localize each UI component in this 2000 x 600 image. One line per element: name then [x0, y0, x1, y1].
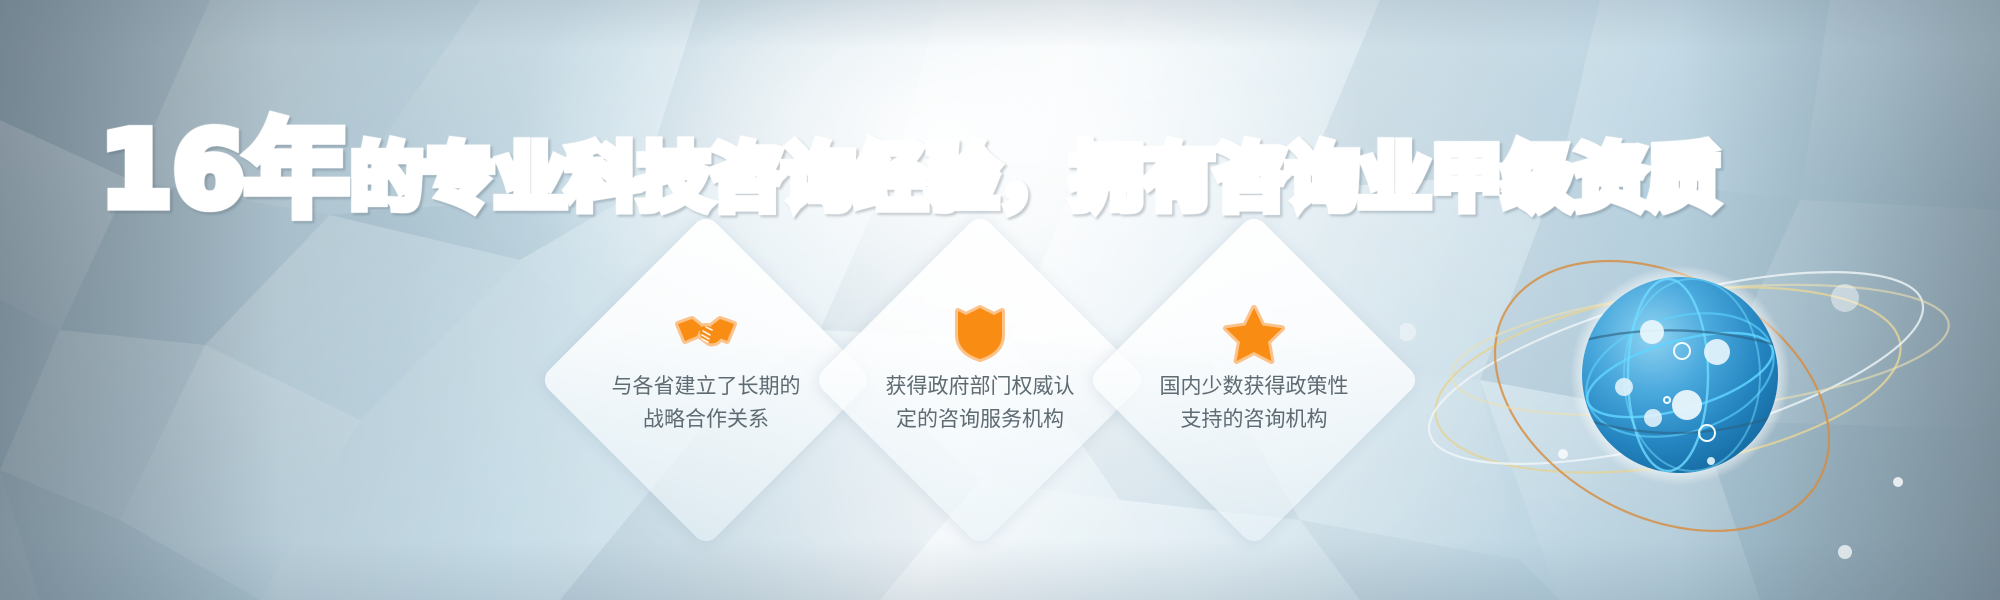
feature-caption-line1: 国内少数获得政策性: [1160, 370, 1349, 403]
feature-caption-line2: 战略合作关系: [643, 403, 769, 436]
feature-caption-line1: 获得政府部门权威认: [886, 370, 1075, 403]
feature-cards: 与各省建立了长期的 战略合作关系 获得政府部门权威认 定的咨询服务机构: [0, 0, 2000, 600]
feature-card-policy-support[interactable]: 国内少数获得政策性 支持的咨询机构: [1136, 262, 1372, 498]
promo-banner: 16年 16年 的专业科技咨询经验，拥有咨询业甲级资质 的专业科技咨询经验，拥有…: [0, 0, 2000, 600]
feature-caption-line2: 支持的咨询机构: [1181, 403, 1328, 436]
shield-icon: [951, 304, 1009, 362]
handshake-icon: [677, 304, 735, 362]
feature-card-authority[interactable]: 获得政府部门权威认 定的咨询服务机构: [862, 262, 1098, 498]
star-icon: [1225, 304, 1283, 362]
feature-caption-line2: 定的咨询服务机构: [896, 403, 1064, 436]
feature-card-partnership[interactable]: 与各省建立了长期的 战略合作关系: [588, 262, 824, 498]
feature-caption-line1: 与各省建立了长期的: [612, 370, 801, 403]
